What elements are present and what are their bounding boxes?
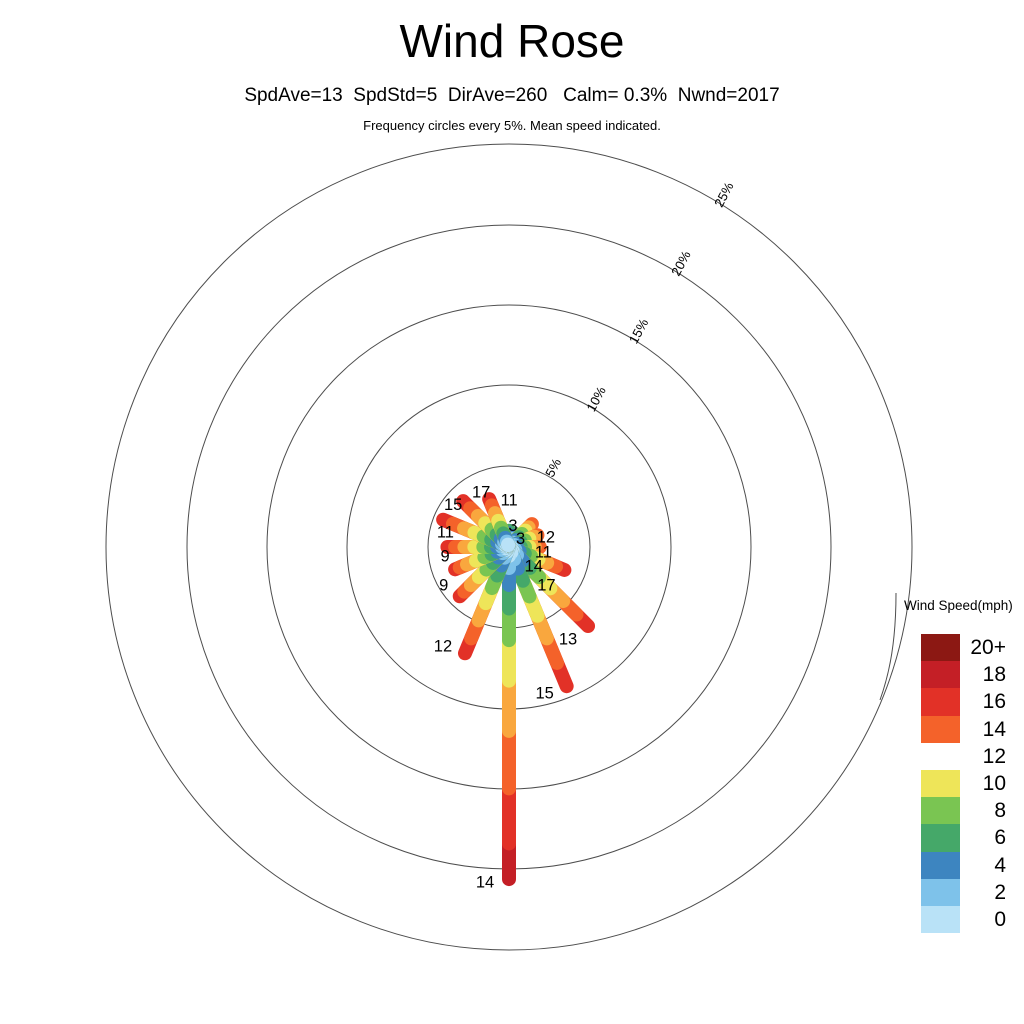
legend-label: 18 <box>960 664 1012 685</box>
legend-color-swatch <box>921 824 960 851</box>
radial-tick-label: 10% <box>583 384 609 414</box>
petal-mean-speed-label: 17 <box>537 576 555 594</box>
wind-rose-page: Wind Rose SpdAve=13 SpdStd=5 DirAve=260 … <box>0 0 1024 1024</box>
legend-swatch-list: 20+181614121086420 <box>921 634 1024 933</box>
legend-label: 4 <box>960 855 1012 876</box>
legend-label: 20+ <box>960 637 1012 658</box>
legend-row: 2 <box>921 879 1024 906</box>
legend-color-swatch <box>921 743 960 770</box>
petal-mean-speed-label: 12 <box>434 638 452 656</box>
petal-mean-speed-label: 15 <box>444 496 462 514</box>
petal-mean-speed-label: 3 <box>516 530 525 548</box>
legend-color-swatch <box>921 634 960 661</box>
legend-color-swatch <box>921 879 960 906</box>
petal-mean-speed-label: 17 <box>472 484 490 502</box>
legend-title: Wind Speed(mph) <box>904 598 1024 613</box>
petal-mean-speed-label: 9 <box>441 548 450 566</box>
legend-color-swatch <box>921 906 960 933</box>
legend-row: 16 <box>921 688 1024 715</box>
legend-row: 6 <box>921 824 1024 851</box>
legend-color-swatch <box>921 770 960 797</box>
radial-tick-label: 25% <box>711 179 737 209</box>
legend-color-swatch <box>921 688 960 715</box>
legend-row: 12 <box>921 743 1024 770</box>
petal-mean-speed-label: 11 <box>437 523 454 541</box>
legend-row: 10 <box>921 770 1024 797</box>
petal-mean-speed-label: 14 <box>476 873 494 891</box>
petal-mean-speed-label: 15 <box>535 685 553 703</box>
petal-mean-speed-label: 14 <box>525 557 543 575</box>
legend-label: 2 <box>960 882 1012 903</box>
legend-row: 18 <box>921 661 1024 688</box>
legend-label: 10 <box>960 773 1012 794</box>
legend-row: 0 <box>921 906 1024 933</box>
petal-mean-speed-label: 13 <box>559 630 577 648</box>
legend-row: 14 <box>921 716 1024 743</box>
legend-color-swatch <box>921 797 960 824</box>
radial-tick-label: 15% <box>626 316 652 346</box>
legend-color-swatch <box>921 716 960 743</box>
legend-row: 8 <box>921 797 1024 824</box>
legend-row: 4 <box>921 852 1024 879</box>
radial-tick-label: 5% <box>542 456 564 480</box>
legend-label: 0 <box>960 909 1012 930</box>
wind-rose-plot: 5%10%15%20%25% 3312111417131514129911151… <box>0 0 1024 1024</box>
petal-group <box>443 499 588 879</box>
legend-label: 16 <box>960 691 1012 712</box>
legend-color-swatch <box>921 852 960 879</box>
petal-mean-speed-label: 11 <box>501 491 518 509</box>
petal-mean-speed-label: 9 <box>439 577 448 595</box>
legend-label: 6 <box>960 827 1012 848</box>
legend-color-swatch <box>921 661 960 688</box>
radial-tick-label: 20% <box>668 248 694 278</box>
legend-row: 20+ <box>921 634 1024 661</box>
legend-label: 14 <box>960 719 1012 740</box>
legend: Wind Speed(mph) 20+181614121086420 <box>900 598 1024 933</box>
legend-label: 8 <box>960 800 1012 821</box>
radial-tick-labels: 5%10%15%20%25% <box>542 179 737 479</box>
legend-label: 12 <box>960 746 1012 767</box>
